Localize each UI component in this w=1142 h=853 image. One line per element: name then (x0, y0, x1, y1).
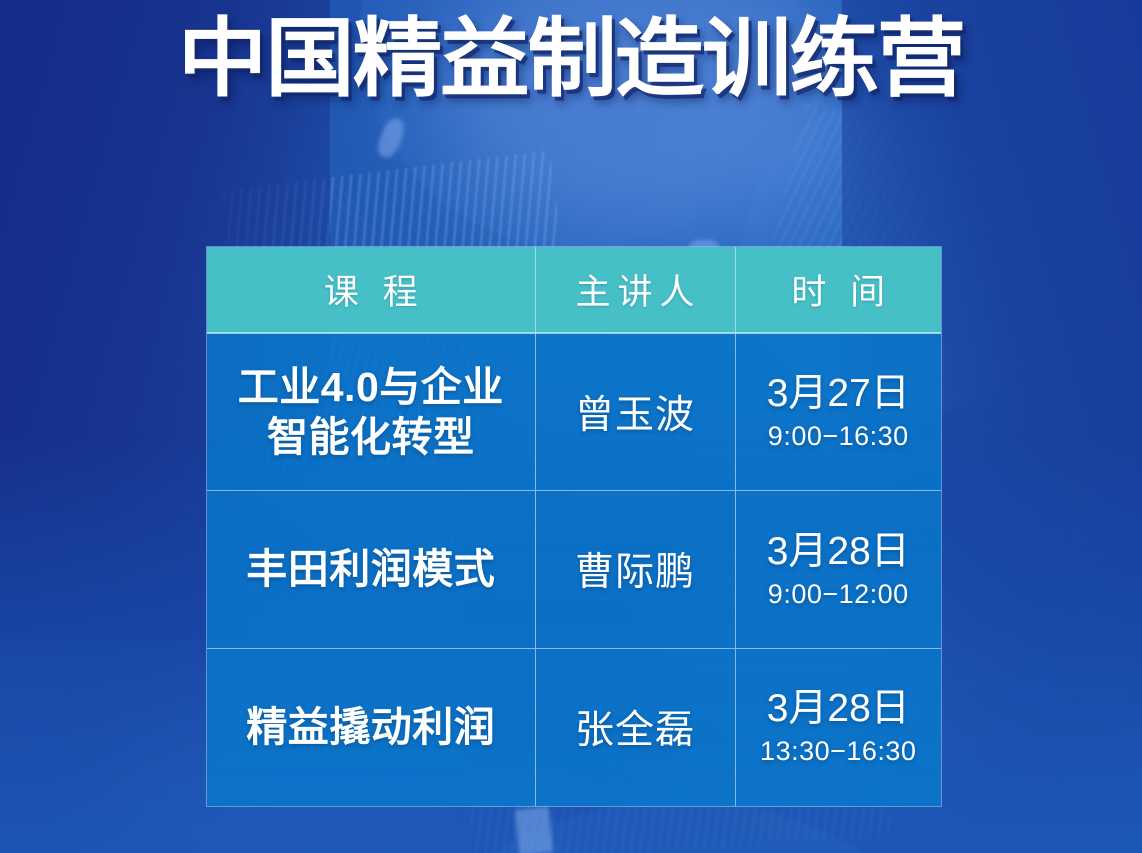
header-row: 课 程 主讲人 时 间 (207, 247, 941, 333)
column-header-speaker: 主讲人 (535, 247, 735, 333)
session-date: 3月28日 (742, 529, 936, 575)
course-title-line-2: 智能化转型 (213, 412, 529, 462)
cell-time: 3月28日 9:00−12:00 (735, 491, 941, 649)
session-hours: 13:30−16:30 (742, 736, 936, 768)
cell-speaker: 曾玉波 (535, 333, 735, 491)
table-row: 精益撬动利润 张全磊 3月28日 13:30−16:30 (207, 648, 941, 806)
schedule-header: 课 程 主讲人 时 间 (207, 247, 941, 333)
table-row: 工业4.0与企业 智能化转型 曾玉波 3月27日 9:00−16:30 (207, 333, 941, 491)
poster-canvas: 中国精益制造训练营 课 程 主讲人 时 间 工业4.0与企业 智能化转型 曾玉波 (0, 0, 1142, 853)
course-title-line-1: 丰田利润模式 (213, 544, 529, 594)
metal-chip-bottom (515, 806, 554, 853)
session-date: 3月27日 (742, 371, 936, 417)
session-date: 3月28日 (742, 686, 936, 732)
table-row: 丰田利润模式 曹际鹏 3月28日 9:00−12:00 (207, 491, 941, 649)
course-title-line-1: 工业4.0与企业 (213, 362, 529, 412)
session-hours: 9:00−16:30 (742, 421, 936, 453)
cell-speaker: 曹际鹏 (535, 491, 735, 649)
cell-course: 精益撬动利润 (207, 648, 535, 806)
cell-speaker: 张全磊 (535, 648, 735, 806)
schedule-body: 工业4.0与企业 智能化转型 曾玉波 3月27日 9:00−16:30 丰田利润… (207, 333, 941, 806)
column-header-course: 课 程 (207, 247, 535, 333)
session-hours: 9:00−12:00 (742, 579, 936, 611)
column-header-time: 时 间 (735, 247, 941, 333)
cell-time: 3月28日 13:30−16:30 (735, 648, 941, 806)
cell-course: 工业4.0与企业 智能化转型 (207, 333, 535, 491)
course-schedule-table: 课 程 主讲人 时 间 工业4.0与企业 智能化转型 曾玉波 3月27日 9:0… (207, 247, 941, 806)
course-title-line-1: 精益撬动利润 (213, 702, 529, 752)
cell-time: 3月27日 9:00−16:30 (735, 333, 941, 491)
poster-title: 中国精益制造训练营 (0, 16, 1142, 104)
cell-course: 丰田利润模式 (207, 491, 535, 649)
